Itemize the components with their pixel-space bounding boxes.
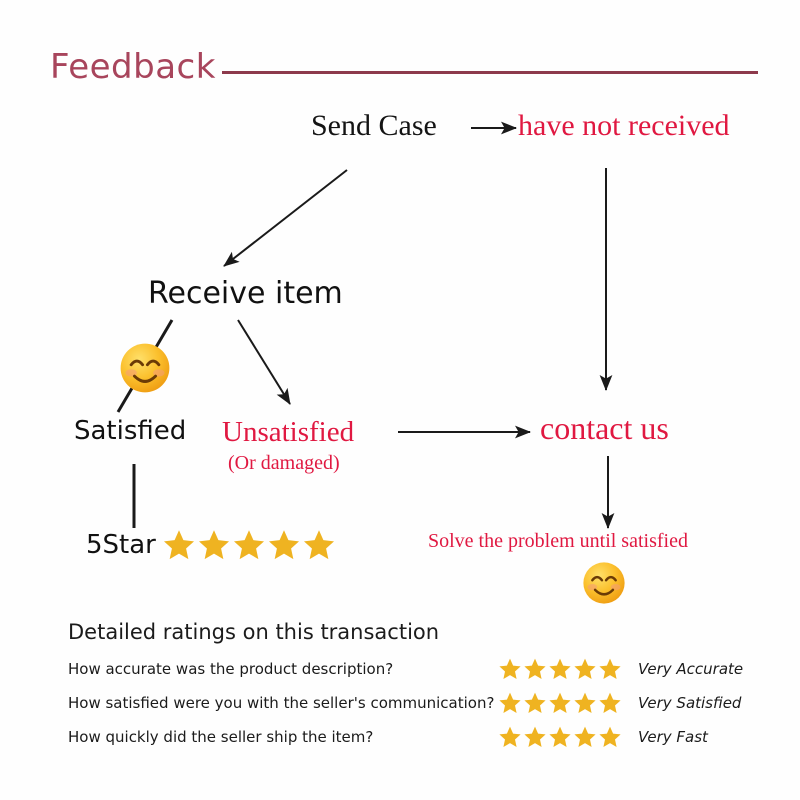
node-contact-us: contact us bbox=[540, 412, 669, 446]
star-icon bbox=[267, 528, 301, 562]
star-icon bbox=[573, 691, 597, 715]
node-receive-item: Receive item bbox=[148, 278, 343, 310]
star-icon bbox=[523, 725, 547, 749]
star-group bbox=[498, 657, 638, 681]
node-send-case: Send Case bbox=[311, 110, 437, 142]
five-star-label: 5Star bbox=[86, 530, 156, 560]
star-icon bbox=[232, 528, 266, 562]
rating-question: How accurate was the product description… bbox=[68, 660, 498, 678]
rating-question: How satisfied were you with the seller's… bbox=[68, 694, 498, 712]
star-icon bbox=[498, 725, 522, 749]
star-icon bbox=[573, 657, 597, 681]
node-unsatisfied-subtext: (Or damaged) bbox=[228, 453, 340, 474]
star-icon bbox=[523, 657, 547, 681]
detailed-ratings-rows: How accurate was the product description… bbox=[68, 654, 768, 752]
star-icon bbox=[573, 725, 597, 749]
smiling-face-emoji bbox=[119, 342, 171, 394]
header-divider bbox=[222, 71, 758, 74]
star-icon bbox=[598, 691, 622, 715]
node-solve-problem: Solve the problem until satisfied bbox=[428, 531, 688, 552]
feedback-diagram: Feedback Send Case have not received Rec… bbox=[0, 0, 800, 800]
arrow-sendcase-to-receiveitem bbox=[224, 170, 347, 266]
detailed-ratings-section: Detailed ratings on this transaction How… bbox=[68, 620, 768, 756]
rating-row: How quickly did the seller ship the item… bbox=[68, 722, 768, 752]
rating-question: How quickly did the seller ship the item… bbox=[68, 728, 498, 746]
rating-row: How satisfied were you with the seller's… bbox=[68, 688, 768, 718]
star-icon bbox=[523, 691, 547, 715]
star-icon bbox=[548, 657, 572, 681]
star-icon bbox=[197, 528, 231, 562]
node-have-not-received: have not received bbox=[518, 110, 730, 142]
star-icon bbox=[548, 725, 572, 749]
node-satisfied: Satisfied bbox=[74, 418, 186, 445]
star-icon bbox=[498, 657, 522, 681]
star-icon bbox=[598, 657, 622, 681]
page-title: Feedback bbox=[50, 50, 216, 86]
rating-value: Very Fast bbox=[638, 728, 708, 746]
star-group-large bbox=[162, 528, 336, 562]
star-icon bbox=[548, 691, 572, 715]
arrow-receiveitem-to-unsatisfied bbox=[238, 320, 290, 404]
smiling-face-emoji bbox=[582, 561, 626, 605]
node-unsatisfied: Unsatisfied bbox=[222, 417, 354, 447]
star-group bbox=[498, 725, 638, 749]
five-star-rating: 5Star bbox=[86, 528, 336, 562]
rating-value: Very Satisfied bbox=[638, 694, 741, 712]
star-icon bbox=[302, 528, 336, 562]
star-icon bbox=[598, 725, 622, 749]
star-icon bbox=[498, 691, 522, 715]
detailed-ratings-heading: Detailed ratings on this transaction bbox=[68, 620, 768, 644]
rating-row: How accurate was the product description… bbox=[68, 654, 768, 684]
star-group bbox=[498, 691, 638, 715]
rating-value: Very Accurate bbox=[638, 660, 743, 678]
star-icon bbox=[162, 528, 196, 562]
